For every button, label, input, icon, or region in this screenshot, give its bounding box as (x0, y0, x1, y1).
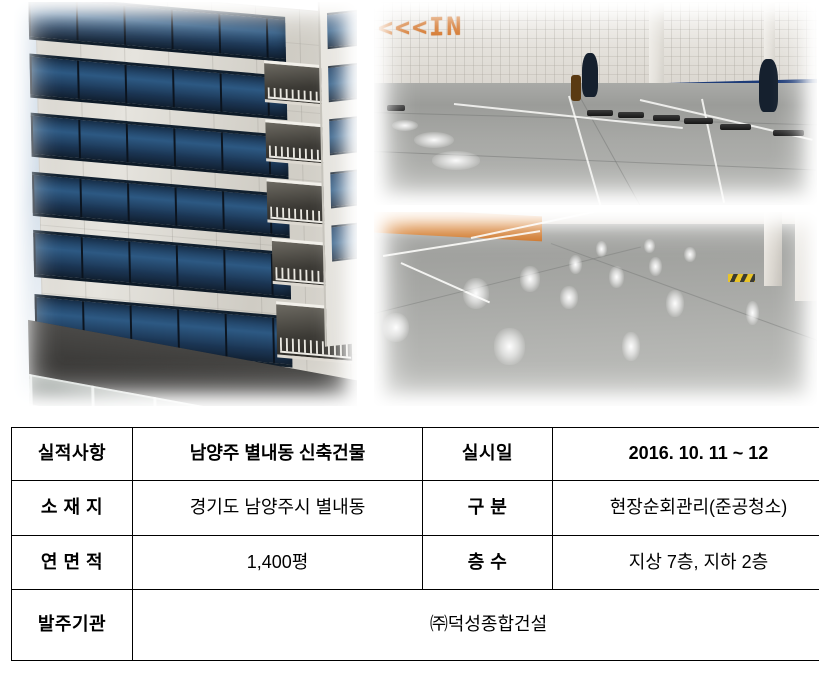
light-reflection-8 (622, 332, 640, 361)
light-reflection-14 (746, 301, 759, 324)
photo-garage-entrance-content: <<<IN (374, 2, 817, 205)
light-reflection-4 (520, 266, 540, 291)
worker-1 (582, 53, 598, 98)
light-reflection-2 (494, 328, 525, 365)
table-row: 발주기관 ㈜덕성종합건설 (12, 590, 819, 661)
row2-label-1: 소 재 지 (12, 481, 133, 536)
garage-floor (374, 83, 817, 205)
row2-value-1: 경기도 남양주시 별내동 (133, 481, 423, 536)
side-window-1 (327, 5, 357, 49)
photo-polished-floor (374, 212, 817, 406)
row3-label-1: 연 면 적 (12, 536, 133, 590)
hazard-stripe-marking (728, 274, 755, 282)
row1-value-1: 남양주 별내동 신축건물 (133, 428, 423, 481)
worker-2 (759, 59, 778, 112)
row1-label-1: 실적사항 (12, 428, 133, 481)
table-row: 소 재 지 경기도 남양주시 별내동 구 분 현장순회관리(준공청소) (12, 481, 819, 536)
floor-reflection-2 (432, 151, 481, 169)
building-facade (35, 2, 357, 406)
light-reflection-5 (560, 286, 578, 309)
cleaning-equipment (571, 75, 581, 101)
light-reflection-10 (666, 290, 684, 317)
wheel-stop-6 (720, 124, 751, 130)
row3-value-1: 1,400평 (133, 536, 423, 590)
wheel-stop-5 (684, 118, 713, 124)
light-reflection-11 (684, 247, 696, 263)
table-row: 실적사항 남양주 별내동 신축건물 실시일 2016. 10. 11 ~ 12 (12, 428, 819, 481)
row2-value-2: 현장순회관리(준공청소) (553, 481, 819, 536)
photo-collage: <<<IN (0, 0, 819, 415)
light-reflection-12 (596, 241, 608, 257)
light-reflection-1 (463, 278, 490, 309)
floor-reflection-1 (414, 132, 454, 148)
wheel-stop-7 (773, 130, 804, 136)
light-reflection-7 (609, 266, 625, 287)
project-spec-table: 실적사항 남양주 별내동 신축건물 실시일 2016. 10. 11 ~ 12 … (11, 427, 819, 661)
wheel-stop-3 (618, 112, 645, 118)
photo-polished-floor-content (374, 212, 817, 406)
spec-table-container: 실적사항 남양주 별내동 신축건물 실시일 2016. 10. 11 ~ 12 … (11, 427, 808, 661)
light-reflection-6 (569, 255, 582, 274)
table-row: 연 면 적 1,400평 층 수 지상 7층, 지하 2층 (12, 536, 819, 590)
wheel-stop-1 (387, 105, 405, 111)
wheel-stop-4 (653, 115, 680, 121)
row3-value-2: 지상 7층, 지하 2층 (553, 536, 819, 590)
photo-building-content (14, 2, 357, 406)
row4-label-1: 발주기관 (12, 590, 133, 661)
floor-reflection-3 (392, 120, 419, 131)
side-window-5 (332, 217, 357, 261)
row4-value-1: ㈜덕성종합건설 (133, 590, 819, 661)
garage-wall-right (795, 212, 817, 301)
light-reflection-3 (383, 313, 410, 342)
parking-line-4 (701, 99, 725, 203)
garage-column-right (764, 212, 782, 286)
wheel-stop-2 (587, 110, 614, 116)
side-window-2 (328, 58, 357, 102)
row3-label-2: 층 수 (423, 536, 553, 590)
row1-label-2: 실시일 (423, 428, 553, 481)
photo-garage-entrance: <<<IN (374, 2, 817, 205)
light-reflection-13 (644, 239, 655, 253)
building-side-wing (318, 2, 357, 346)
row2-label-2: 구 분 (423, 481, 553, 536)
photo-building-exterior (14, 2, 357, 406)
in-direction-sign: <<<IN (378, 13, 511, 50)
side-window-4 (331, 164, 357, 208)
row1-value-2: 2016. 10. 11 ~ 12 (553, 428, 819, 481)
side-window-3 (330, 111, 357, 155)
light-reflection-9 (649, 257, 662, 276)
